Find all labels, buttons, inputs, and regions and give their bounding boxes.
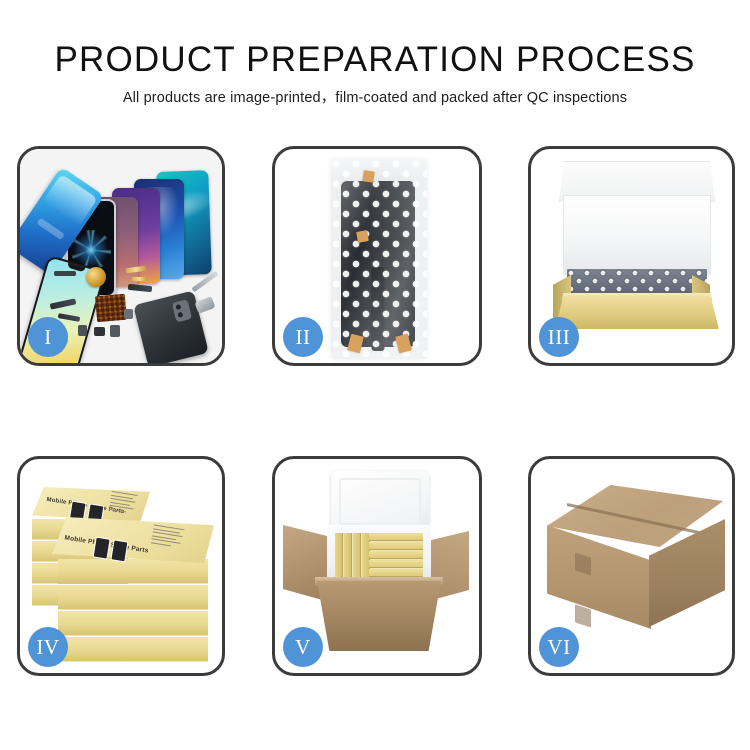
tape-icon	[362, 170, 374, 182]
bubble-wrap-bag-icon	[331, 159, 427, 359]
step-badge-1: I	[28, 317, 68, 357]
stacked-box	[58, 637, 208, 661]
plastic-sheen-icon	[331, 159, 427, 359]
step-badge-4: IV	[28, 627, 68, 667]
chip-array-part-icon	[95, 294, 127, 323]
step-badge-5: V	[283, 627, 323, 667]
foam-sheet-icon	[563, 195, 711, 275]
step-panel-4[interactable]: Mobile Phone Spare Parts Mobile Phone Sp…	[17, 456, 225, 676]
stacked-box	[58, 585, 208, 609]
step-badge-2: II	[283, 317, 323, 357]
step-panel-5[interactable]: V	[272, 456, 482, 676]
step-image-6: VI	[531, 459, 732, 673]
step-panel-6[interactable]: VI	[528, 456, 735, 676]
step-badge-6: VI	[539, 627, 579, 667]
step-image-4: Mobile Phone Spare Parts Mobile Phone Sp…	[20, 459, 222, 673]
step-panel-1[interactable]: I	[17, 146, 225, 366]
gold-connector-part-icon	[132, 277, 147, 281]
box-label-lines-icon	[108, 491, 139, 517]
small-part-icon	[110, 325, 120, 337]
camera-module-icon	[172, 299, 192, 322]
box-front-icon	[555, 297, 719, 329]
step-panel-2[interactable]: II	[272, 146, 482, 366]
step-image-3: III	[531, 149, 732, 363]
small-part-icon	[94, 327, 105, 336]
small-part-icon	[54, 271, 76, 276]
carton-body-icon	[317, 581, 441, 651]
stacked-box	[58, 611, 208, 635]
small-part-icon	[78, 325, 87, 336]
carton-handle-tab-icon	[575, 604, 591, 627]
step-badge-3: III	[539, 317, 579, 357]
stacked-box	[58, 559, 208, 583]
packed-boxes-icon	[335, 533, 423, 577]
step-image-2: II	[275, 149, 479, 363]
tape-icon	[356, 230, 369, 243]
small-part-icon	[124, 309, 133, 319]
speaker-coil-part-icon	[86, 267, 106, 287]
process-step-grid: I II III	[0, 0, 750, 750]
foam-lid-icon	[331, 471, 429, 533]
step-panel-3[interactable]: III	[528, 146, 735, 366]
step-image-5: V	[275, 459, 479, 673]
step-image-1: I	[20, 149, 222, 363]
